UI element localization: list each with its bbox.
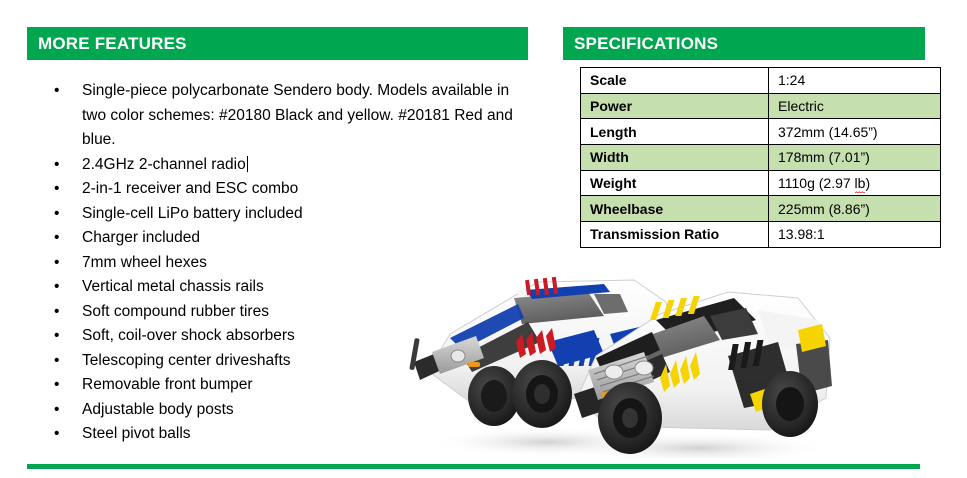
list-item-text: Single-piece polycarbonate Sendero body.…: [82, 82, 513, 148]
spellcheck-flagged-word: lb: [855, 175, 866, 191]
product-photo: [398, 246, 850, 458]
tire: [512, 360, 572, 428]
list-item-text: Steel pivot balls: [82, 425, 191, 442]
more-features-title: MORE FEATURES: [27, 34, 187, 54]
table-row: Transmission Ratio 13.98:1: [581, 222, 941, 248]
list-item: • 2.4GHz 2-channel radio: [32, 153, 532, 178]
table-row: Length 372mm (14.65”): [581, 119, 941, 145]
tire: [598, 382, 662, 454]
list-item-text: Removable front bumper: [82, 376, 253, 393]
bullet-icon: •: [54, 398, 59, 423]
list-item-text: 2.4GHz 2-channel radio: [82, 156, 246, 173]
bullet-icon: •: [54, 422, 59, 447]
list-item-text: Adjustable body posts: [82, 401, 234, 418]
table-row: Weight 1110g (2.97 lb): [581, 170, 941, 196]
table-row: Width 178mm (7.01”): [581, 145, 941, 171]
bullet-icon: •: [54, 226, 59, 251]
list-item-text: Soft, coil-over shock absorbers: [82, 327, 295, 344]
table-row: Power Electric: [581, 93, 941, 119]
spec-value: 13.98:1: [769, 222, 941, 248]
spec-value: 178mm (7.01”): [769, 145, 941, 171]
more-features-header: MORE FEATURES: [27, 27, 528, 60]
spec-label: Scale: [581, 68, 769, 94]
spec-value: 1110g (2.97 lb): [769, 170, 941, 196]
spec-label: Transmission Ratio: [581, 222, 769, 248]
bullet-icon: •: [54, 300, 59, 325]
list-item: • Single-cell LiPo battery included: [32, 202, 532, 227]
spec-label: Length: [581, 119, 769, 145]
specifications-header: SPECIFICATIONS: [563, 27, 925, 60]
spec-value: Electric: [769, 93, 941, 119]
list-item: • Single-piece polycarbonate Sendero bod…: [32, 79, 530, 153]
specifications-table: Scale 1:24 Power Electric Length 372mm (…: [580, 67, 941, 248]
spec-value-suffix: ): [865, 175, 870, 191]
list-item-text: Soft compound rubber tires: [82, 303, 269, 320]
table-row: Scale 1:24: [581, 68, 941, 94]
text-cursor: [247, 156, 248, 172]
bottom-divider-rule: [27, 464, 920, 469]
table-row: Wheelbase 225mm (8.86”): [581, 196, 941, 222]
spec-value: 372mm (14.65”): [769, 119, 941, 145]
bullet-icon: •: [54, 251, 59, 276]
tire: [762, 371, 818, 437]
bullet-icon: •: [54, 324, 59, 349]
list-item-text: Charger included: [82, 229, 200, 246]
spec-value: 225mm (8.86”): [769, 196, 941, 222]
bullet-icon: •: [54, 275, 59, 300]
spec-value: 1:24: [769, 68, 941, 94]
list-item-text: Single-cell LiPo battery included: [82, 205, 303, 222]
spec-label: Weight: [581, 170, 769, 196]
spec-value-prefix: 1110g (2.97: [778, 175, 855, 191]
list-item-text: Vertical metal chassis rails: [82, 278, 264, 295]
list-item-text: 2-in-1 receiver and ESC combo: [82, 180, 298, 197]
bullet-icon: •: [54, 373, 59, 398]
spec-label: Wheelbase: [581, 196, 769, 222]
bullet-icon: •: [54, 177, 59, 202]
rc-trucks-illustration: [398, 246, 850, 458]
spec-label: Power: [581, 93, 769, 119]
list-item: • 2-in-1 receiver and ESC combo: [32, 177, 532, 202]
bullet-icon: •: [54, 153, 59, 178]
bullet-icon: •: [54, 79, 59, 104]
black-stripe-bars: [728, 340, 763, 370]
list-item-text: 7mm wheel hexes: [82, 254, 207, 271]
bullet-icon: •: [54, 349, 59, 374]
spec-label: Width: [581, 145, 769, 171]
list-item-text: Telescoping center driveshafts: [82, 352, 291, 369]
specifications-title: SPECIFICATIONS: [563, 34, 718, 54]
bullet-icon: •: [54, 202, 59, 227]
